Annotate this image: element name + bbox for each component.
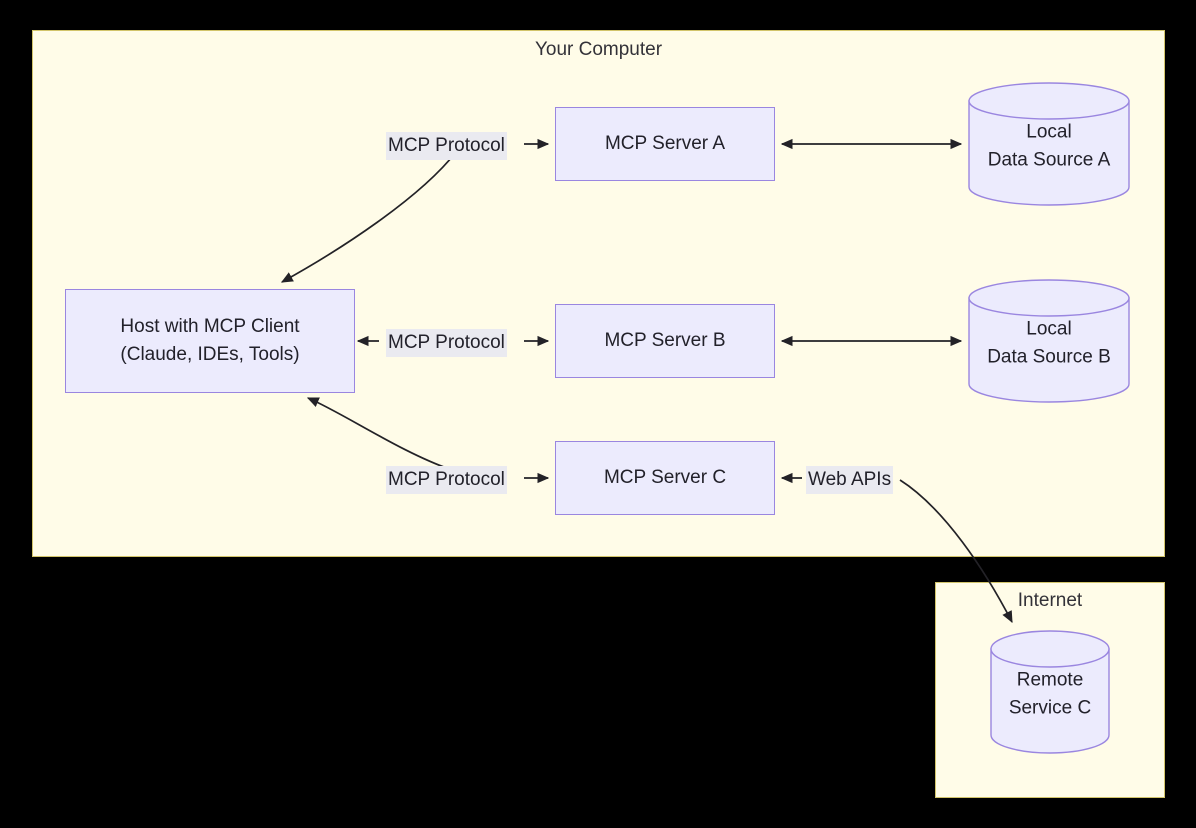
node-host-with-mcp-client[interactable]: Host with MCP Client (Claude, IDEs, Tool…: [65, 289, 355, 393]
panel-internet-title: Internet: [936, 590, 1164, 612]
node-mcp-server-b-label: MCP Server B: [604, 327, 725, 355]
node-mcp-server-a-label: MCP Server A: [605, 130, 725, 158]
node-mcp-server-c-label: MCP Server C: [604, 464, 726, 492]
node-local-data-source-b[interactable]: Local Data Source B: [968, 279, 1130, 403]
node-mcp-server-c[interactable]: MCP Server C: [555, 441, 775, 515]
node-host-line1: Host with MCP Client: [120, 313, 299, 341]
edge-label-mcp-protocol-a: MCP Protocol: [386, 132, 507, 160]
diagram-canvas: Your Computer Internet: [0, 0, 1196, 828]
node-local-data-source-a[interactable]: Local Data Source A: [968, 82, 1130, 206]
edge-label-mcp-protocol-c: MCP Protocol: [386, 466, 507, 494]
node-remote-service-c[interactable]: Remote Service C: [990, 630, 1110, 754]
cylinder-icon: [968, 82, 1130, 206]
node-mcp-server-b[interactable]: MCP Server B: [555, 304, 775, 378]
panel-your-computer-title: Your Computer: [33, 39, 1164, 61]
edge-label-web-apis: Web APIs: [806, 466, 893, 494]
cylinder-icon: [968, 279, 1130, 403]
edge-label-mcp-protocol-b: MCP Protocol: [386, 329, 507, 357]
cylinder-icon: [990, 630, 1110, 754]
node-host-line2: (Claude, IDEs, Tools): [120, 341, 299, 369]
node-mcp-server-a[interactable]: MCP Server A: [555, 107, 775, 181]
